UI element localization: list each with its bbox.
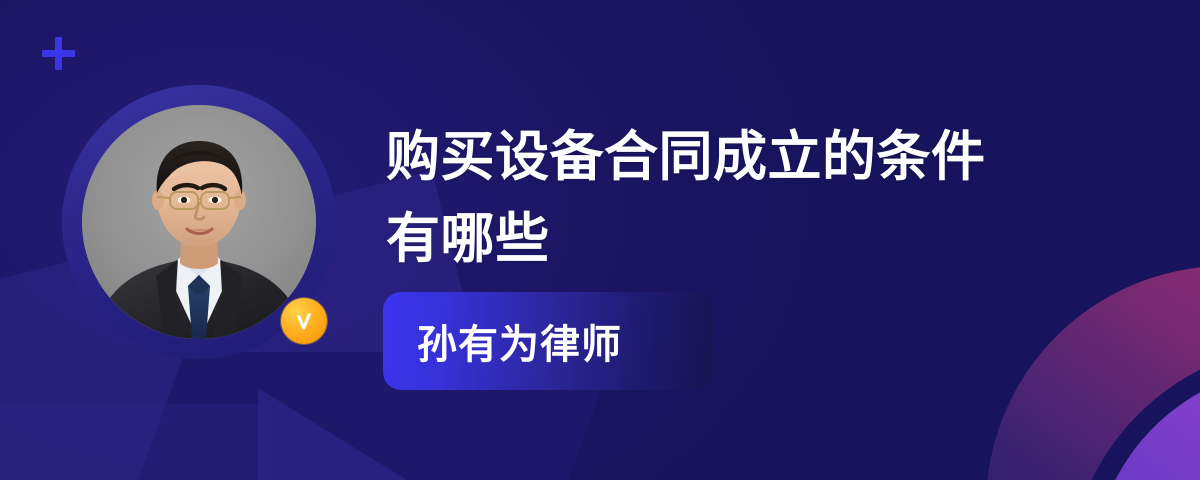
article-cover-banner: 购买设备合同成立的条件 有哪些 孙有为律师	[0, 0, 1200, 480]
author-name-badge[interactable]: 孙有为律师	[383, 292, 713, 390]
verified-check-icon	[281, 298, 327, 344]
page-title-line-2: 有哪些	[386, 198, 1076, 280]
plus-icon	[42, 37, 75, 70]
author-name-label: 孙有为律师	[383, 312, 622, 370]
headline-block: 购买设备合同成立的条件 有哪些	[386, 116, 1076, 280]
page-title-line-1: 购买设备合同成立的条件	[386, 116, 1076, 198]
decor-slab-left-c	[0, 404, 270, 480]
page-title: 购买设备合同成立的条件 有哪些	[386, 116, 1076, 280]
avatar	[62, 85, 336, 359]
avatar-photo	[82, 105, 316, 339]
